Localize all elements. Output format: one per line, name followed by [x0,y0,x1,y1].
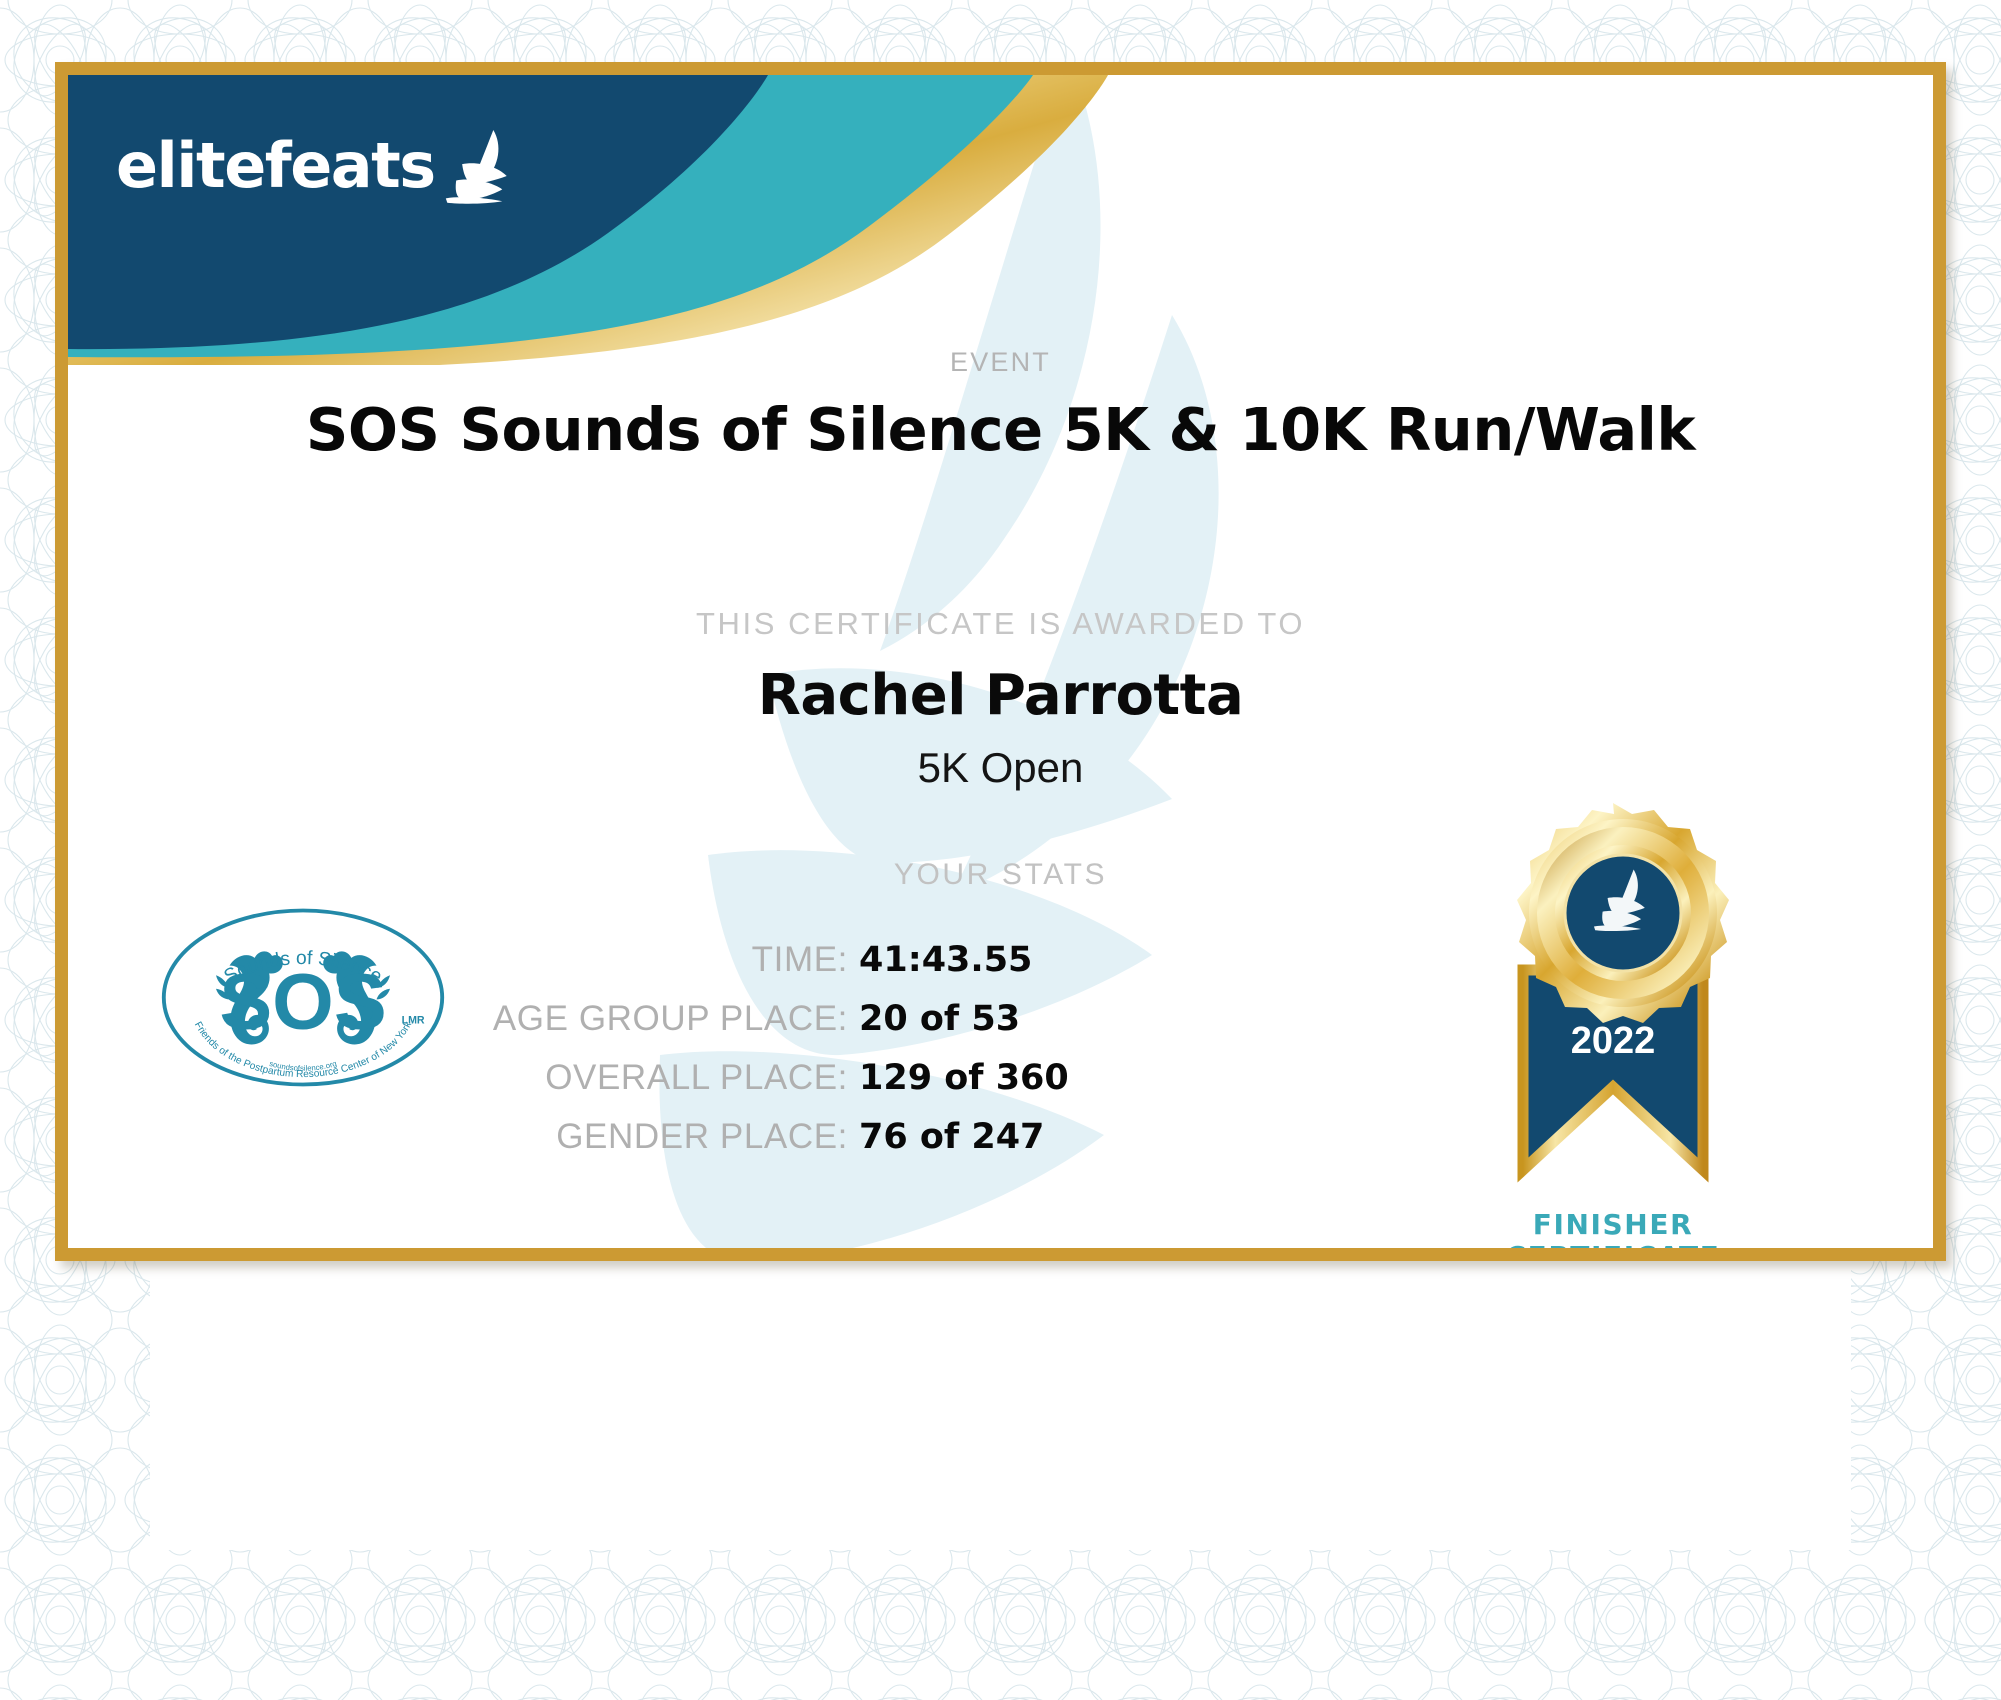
stat-row-gender-place: GENDER PLACE: 76 of 247 [368,1117,1368,1157]
sos-event-logo: SOS LMR Sounds of Silence Friends of the… [158,905,448,1090]
stats-list: TIME: 41:43.55 AGE GROUP PLACE: 20 of 53… [368,940,1368,1176]
recipient-division: 5K Open [68,744,1933,792]
badge-caption-line1: FINISHER [1463,1209,1763,1241]
winged-foot-icon [439,127,515,205]
stat-value-overall-place: 129 of 360 [848,1058,1368,1098]
event-title: SOS Sounds of Silence 5K & 10K Run/Walk [68,395,1933,464]
stat-value-gender-place: 76 of 247 [848,1117,1368,1157]
badge-year: 2022 [1571,1020,1656,1062]
stat-row-overall-place: OVERALL PLACE: 129 of 360 [368,1058,1368,1098]
stat-row-time: TIME: 41:43.55 [368,940,1368,980]
event-label: EVENT [68,347,1933,378]
badge-caption: FINISHER CERTIFICATE [1463,1209,1763,1248]
gold-frame: elitefeats EVENT SOS Sounds of Silence 5… [55,62,1946,1261]
stat-row-age-group-place: AGE GROUP PLACE: 20 of 53 [368,999,1368,1039]
finisher-medal-graphic: 2022 [1463,795,1763,1215]
awarded-to-label: THIS CERTIFICATE IS AWARDED TO [68,606,1933,642]
certificate-body: elitefeats EVENT SOS Sounds of Silence 5… [68,75,1933,1248]
recipient-name: Rachel Parrotta [68,663,1933,728]
brand-wordmark: elitefeats [116,135,435,197]
badge-caption-line2: CERTIFICATE [1463,1241,1763,1248]
certificate-page: elitefeats EVENT SOS Sounds of Silence 5… [0,0,2001,1700]
brand-logo: elitefeats [116,127,515,205]
stat-label-gender-place: GENDER PLACE: [368,1117,848,1157]
header-swoosh-graphic [68,75,1108,365]
stat-value-time: 41:43.55 [848,940,1368,980]
stat-value-age-group-place: 20 of 53 [848,999,1368,1039]
finisher-badge: 2022 FINISHER CERTIFICATE [1463,795,1763,1248]
